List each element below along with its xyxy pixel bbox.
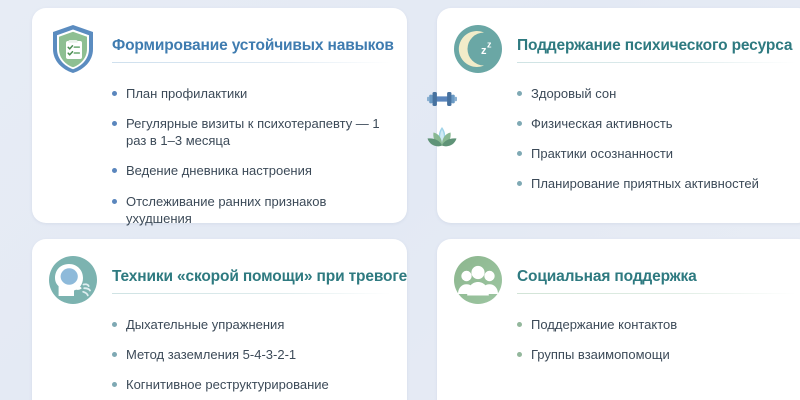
list-item: Регулярные визиты к психотерапевту — 1 р… [112,115,393,149]
list-item: Дыхательные упражнения [112,316,393,333]
dumbbell-icon [425,82,459,116]
card-title: Техники «скорой помощи» при тревоге [112,268,391,286]
title-wrap: Формирование устойчивых навыков [112,35,391,63]
list-item: Поддержание контактов [517,316,798,333]
list-item: Ведение дневника настроения [112,162,393,179]
card-header: Формирование устойчивых навыков [32,8,407,76]
card-header: z z Поддержание психического ресурса [437,8,800,76]
list-item: Группы взаимопомощи [517,346,798,363]
list-item: Метод заземления 5-4-3-2-1 [112,346,393,363]
title-underline [517,293,796,294]
title-underline [112,293,391,294]
list-item: План профилактики [112,85,393,102]
people-group-icon [451,253,505,307]
bullet-list: Здоровый сон Физическая активность Практ… [437,76,800,193]
svg-text:z: z [487,40,492,50]
list-item: Отслеживание ранних признаков ухудшения [112,193,393,227]
card-mental-resource: z z Поддержание психического ресурса [437,8,800,223]
cards-grid: Формирование устойчивых навыков План про… [0,0,800,400]
bullet-list: План профилактики Регулярные визиты к пс… [32,76,407,227]
breathing-head-icon [46,253,100,307]
title-wrap: Техники «скорой помощи» при тревоге [112,266,391,294]
title-underline [112,62,391,63]
card-title: Поддержание психического ресурса [517,37,796,55]
card-skills: Формирование устойчивых навыков План про… [32,8,407,223]
list-item: Физическая активность [517,115,798,132]
list-item: Когнитивное реструктурирование [112,376,393,393]
title-wrap: Социальная поддержка [517,266,796,294]
bullet-list: Дыхательные упражнения Метод заземления … [32,307,407,393]
card-header: Техники «скорой помощи» при тревоге [32,239,407,307]
card-title: Социальная поддержка [517,268,796,286]
lotus-icon [425,120,459,154]
card-social-support: Социальная поддержка Поддержание контакт… [437,239,800,400]
list-item: Здоровый сон [517,85,798,102]
shield-checklist-icon [46,22,100,76]
card-header: Социальная поддержка [437,239,800,307]
moon-sleep-icon: z z [451,22,505,76]
list-item: Практики осознанности [517,145,798,162]
card-emergency-techniques: Техники «скорой помощи» при тревоге Дыха… [32,239,407,400]
title-underline [517,62,796,63]
card-title: Формирование устойчивых навыков [112,37,391,55]
title-wrap: Поддержание психического ресурса [517,35,796,63]
bullet-list: Поддержание контактов Группы взаимопомощ… [437,307,800,363]
list-item: Планирование приятных активностей [517,175,798,192]
